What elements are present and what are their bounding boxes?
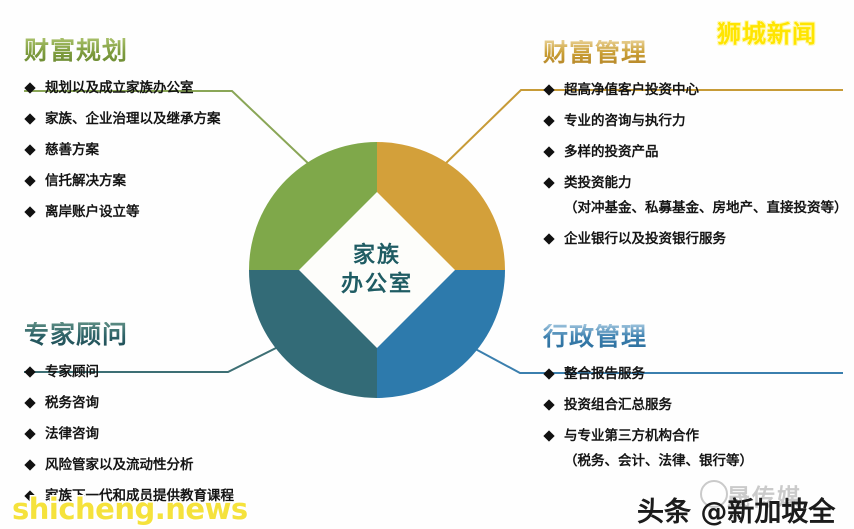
list-item-text: 慈善方案: [45, 142, 99, 158]
panel-wealth-management: 财富管理 超高净值客户投资中心 专业的咨询与执行力 多样的投资产品 类投资能力 …: [543, 40, 843, 262]
list-item-text: 多样的投资产品: [564, 144, 659, 160]
list-item-text: 专家顾问: [45, 364, 99, 380]
infographic-canvas: 家族 办公室 财富规划 规划以及成立家族办公室 家族、企业治理以及继承方案 慈善…: [0, 0, 854, 529]
list-item-text: 家族、企业治理以及继承方案: [45, 111, 221, 127]
diamond-bullet-icon: [543, 85, 554, 96]
list-item-text: 离岸账户设立等: [45, 204, 140, 220]
list-item-text: 投资组合汇总服务: [564, 397, 672, 413]
diamond-bullet-icon: [543, 399, 554, 410]
list-item-text: （对冲基金、私募基金、房地产、直接投资等）: [564, 200, 848, 216]
list-item-text: （税务、会计、法律、银行等）: [564, 453, 753, 469]
list-item-text: 类投资能力: [564, 175, 632, 191]
diamond-bullet-icon: [24, 83, 35, 94]
panel-title-administration: 行政管理: [543, 324, 843, 350]
list-item-text: 专业的咨询与执行力: [564, 113, 686, 129]
list-item: 离岸账户设立等: [24, 204, 299, 221]
list-item-text: 超高净值客户投资中心: [564, 82, 699, 98]
diamond-bullet-icon: [24, 459, 35, 470]
panel-wealth-planning: 财富规划 规划以及成立家族办公室 家族、企业治理以及继承方案 慈善方案 信托解决…: [24, 38, 299, 235]
list-item: 投资组合汇总服务: [543, 397, 843, 414]
list-item: 家族、企业治理以及继承方案: [24, 111, 299, 128]
list-item-text: 税务咨询: [45, 395, 99, 411]
list-item-text: 风险管家以及流动性分析: [45, 457, 194, 473]
list-item: 整合报告服务: [543, 366, 843, 383]
diamond-bullet-icon: [24, 113, 35, 124]
list-item-text: 规划以及成立家族办公室: [45, 80, 194, 96]
diamond-bullet-icon: [24, 206, 35, 217]
list-item: 慈善方案: [24, 142, 299, 159]
diamond-bullet-icon: [543, 369, 554, 380]
diamond-bullet-icon: [24, 367, 35, 378]
diamond-bullet-icon: [24, 175, 35, 186]
list-item-text: 信托解决方案: [45, 173, 126, 189]
bullet-list-wealth-management: 超高净值客户投资中心 专业的咨询与执行力 多样的投资产品 类投资能力 （对冲基金…: [543, 82, 843, 247]
list-item-text: 法律咨询: [45, 426, 99, 442]
list-item: 税务咨询: [24, 395, 299, 412]
list-item: 与专业第三方机构合作: [543, 428, 843, 445]
list-item: 企业银行以及投资银行服务: [543, 231, 843, 248]
watermark-bottom-left: shicheng.news: [12, 492, 248, 526]
diamond-bullet-icon: [24, 428, 35, 439]
diamond-bullet-icon: [24, 144, 35, 155]
watermark-bottom-right: 头条 @新加坡全球通: [637, 490, 854, 529]
list-item-text: 企业银行以及投资银行服务: [564, 231, 726, 247]
diamond-bullet-icon: [543, 146, 554, 157]
panel-expert-advisors: 专家顾问 专家顾问 税务咨询 法律咨询 风险管家以及流动性分析 家族下一代和成员…: [24, 322, 299, 519]
list-item: 多样的投资产品: [543, 144, 843, 161]
list-item: 规划以及成立家族办公室: [24, 80, 299, 97]
diamond-bullet-icon: [24, 397, 35, 408]
panel-title-wealth-planning: 财富规划: [24, 38, 299, 64]
panel-title-expert-advisors: 专家顾问: [24, 322, 299, 348]
panel-administration: 行政管理 整合报告服务 投资组合汇总服务 与专业第三方机构合作 （税务、会计、法…: [543, 324, 843, 484]
bullet-list-wealth-planning: 规划以及成立家族办公室 家族、企业治理以及继承方案 慈善方案 信托解决方案 离岸…: [24, 80, 299, 220]
watermark-top-right: 狮城新闻: [717, 14, 817, 49]
list-item-note: （对冲基金、私募基金、房地产、直接投资等）: [543, 200, 843, 217]
list-item: 法律咨询: [24, 426, 299, 443]
diamond-bullet-icon: [543, 177, 554, 188]
list-item: 专家顾问: [24, 364, 299, 381]
list-item-note: （税务、会计、法律、银行等）: [543, 453, 843, 470]
diamond-bullet-icon: [543, 430, 554, 441]
diamond-bullet-icon: [543, 233, 554, 244]
list-item: 信托解决方案: [24, 173, 299, 190]
bullet-list-expert-advisors: 专家顾问 税务咨询 法律咨询 风险管家以及流动性分析 家族下一代和成员提供教育课…: [24, 364, 299, 504]
list-item: 风险管家以及流动性分析: [24, 457, 299, 474]
list-item: 类投资能力: [543, 175, 843, 192]
diamond-bullet-icon: [543, 115, 554, 126]
list-item-text: 整合报告服务: [564, 366, 645, 382]
list-item: 超高净值客户投资中心: [543, 82, 843, 99]
bullet-list-administration: 整合报告服务 投资组合汇总服务 与专业第三方机构合作 （税务、会计、法律、银行等…: [543, 366, 843, 470]
list-item: 专业的咨询与执行力: [543, 113, 843, 130]
list-item-text: 与专业第三方机构合作: [564, 428, 699, 444]
